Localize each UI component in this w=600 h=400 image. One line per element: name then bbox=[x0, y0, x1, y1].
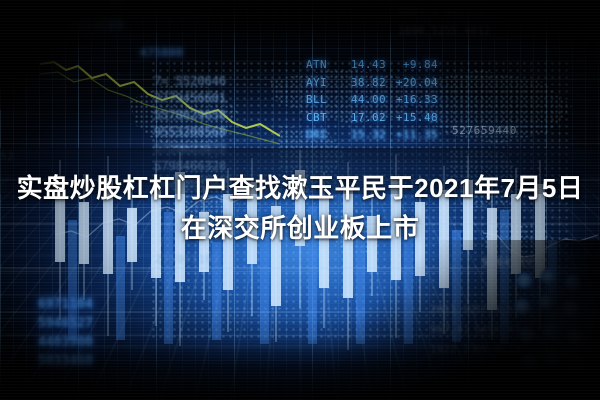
corner-shadow-top-left bbox=[0, 0, 110, 110]
corner-shadow-bottom-right bbox=[310, 240, 600, 400]
stock-market-background-image: ATN14.43+9.84 AYI38.82+20.04 BLL44.00+16… bbox=[0, 0, 600, 400]
headline-text: 实盘炒股杠杠门户查找漱玉平民于2021年7月5日在深交所创业板上市 bbox=[0, 168, 600, 248]
